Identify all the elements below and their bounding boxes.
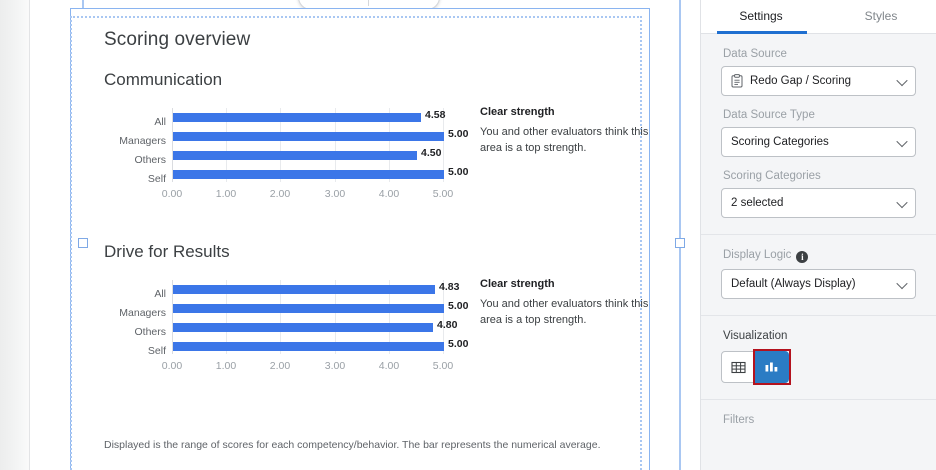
x-axis-ticks: 0.00 1.00 2.00 3.00 4.00 5.00 — [172, 360, 444, 374]
x-tick-label: 3.00 — [325, 188, 345, 200]
bar-chart-icon — [764, 360, 781, 375]
panel-tabs: Settings Styles — [701, 0, 936, 34]
bar-value-label: 5.00 — [448, 300, 468, 312]
visualization-table-button[interactable] — [721, 351, 755, 383]
editor-canvas: Scoring overview Communication All Manag… — [30, 0, 700, 470]
chevron-down-icon — [896, 197, 907, 208]
resize-handle-right[interactable] — [675, 238, 685, 248]
plot-area: 4.58 5.00 4.50 5.00 — [172, 108, 444, 186]
category-label: Managers — [104, 135, 166, 147]
visualization-chart-button[interactable] — [755, 351, 789, 383]
visualization-chart-highlight — [755, 351, 789, 383]
display-logic-label: Display Logici — [723, 249, 916, 263]
x-tick-label: 4.00 — [379, 188, 399, 200]
filters-group: Filters — [701, 400, 936, 448]
x-tick-label: 3.00 — [325, 360, 345, 372]
data-source-type-value: Scoring Categories — [731, 136, 829, 148]
section-title: Communication — [104, 70, 222, 90]
x-tick-label: 5.00 — [433, 188, 453, 200]
x-tick-label: 4.00 — [379, 360, 399, 372]
section-title: Drive for Results — [104, 242, 230, 262]
insight-note: Clear strength You and other evaluators … — [480, 106, 662, 156]
widget-content: Scoring overview Communication All Manag… — [82, 20, 642, 470]
display-logic-select[interactable]: Default (Always Display) — [721, 269, 916, 299]
chevron-down-icon — [896, 278, 907, 289]
category-label: Self — [104, 345, 166, 357]
data-source-type-label: Data Source Type — [723, 109, 916, 121]
display-logic-value: Default (Always Display) — [731, 278, 856, 290]
info-icon[interactable]: i — [796, 251, 808, 263]
spacer — [721, 96, 916, 109]
data-source-label: Data Source — [723, 48, 916, 60]
x-tick-label: 0.00 — [162, 360, 182, 372]
bar — [173, 323, 433, 332]
bar-value-label: 4.80 — [437, 319, 457, 331]
category-label: All — [104, 288, 166, 300]
bar-chart-communication: All Managers Others Self 4.58 — [104, 98, 464, 193]
chevron-down-icon — [896, 136, 907, 147]
scoring-section-communication: Communication All Managers Others Self — [82, 70, 642, 245]
category-label: Self — [104, 173, 166, 185]
settings-panel: Settings Styles Data Source Redo Gap / S… — [700, 0, 936, 470]
category-label: Managers — [104, 307, 166, 319]
bar — [173, 132, 444, 141]
category-label: Others — [104, 326, 166, 338]
data-source-select[interactable]: Redo Gap / Scoring — [721, 66, 916, 96]
insight-note-title: Clear strength — [480, 106, 662, 118]
visualization-toggle-group — [721, 351, 916, 383]
bar — [173, 285, 435, 294]
toolbar-divider — [368, 0, 369, 6]
filters-label: Filters — [723, 414, 916, 426]
bar-value-label: 5.00 — [448, 128, 468, 140]
data-source-value: Redo Gap / Scoring — [750, 75, 851, 87]
category-label: Others — [104, 154, 166, 166]
display-logic-label-text: Display Logic — [723, 249, 791, 261]
data-source-type-select[interactable]: Scoring Categories — [721, 127, 916, 157]
visualization-group: Visualization — [701, 316, 936, 400]
selection-rail-right — [679, 0, 681, 470]
tab-styles[interactable]: Styles — [831, 0, 931, 33]
data-source-group: Data Source Redo Gap / Scoring Data Sour… — [701, 34, 936, 235]
bar — [173, 113, 421, 122]
x-axis-ticks: 0.00 1.00 2.00 3.00 4.00 5.00 — [172, 188, 444, 202]
scoring-categories-label: Scoring Categories — [723, 170, 916, 182]
tab-settings[interactable]: Settings — [707, 0, 815, 33]
display-logic-group: Display Logici Default (Always Display) — [701, 235, 936, 316]
bar-value-label: 5.00 — [448, 166, 468, 178]
bar-chart-drive-for-results: All Managers Others Self 4.83 — [104, 270, 464, 365]
bar — [173, 342, 444, 351]
x-tick-label: 2.00 — [270, 188, 290, 200]
spacer — [721, 157, 916, 170]
scoring-categories-value: 2 selected — [731, 197, 783, 209]
insight-note: Clear strength You and other evaluators … — [480, 278, 662, 328]
x-tick-label: 1.00 — [216, 188, 236, 200]
bar — [173, 151, 417, 160]
table-grid-icon — [731, 360, 746, 375]
insight-note-title: Clear strength — [480, 278, 662, 290]
bar-value-label: 5.00 — [448, 338, 468, 350]
x-tick-label: 5.00 — [433, 360, 453, 372]
bar-value-label: 4.58 — [425, 109, 445, 121]
bar-value-label: 4.50 — [421, 147, 441, 159]
visualization-label: Visualization — [723, 330, 916, 342]
x-tick-label: 2.00 — [270, 360, 290, 372]
clipboard-icon — [731, 74, 743, 88]
chart-footnote: Displayed is the range of scores for eac… — [104, 438, 644, 453]
page-title: Scoring overview — [104, 29, 250, 51]
insight-note-body: You and other evaluators think this area… — [480, 297, 662, 328]
bar-value-label: 4.83 — [439, 281, 459, 293]
active-tab-indicator — [717, 31, 807, 34]
app-root: Scoring overview Communication All Manag… — [0, 0, 936, 470]
left-gutter — [0, 0, 30, 470]
scoring-categories-select[interactable]: 2 selected — [721, 188, 916, 218]
scoring-section-drive-for-results: Drive for Results All Managers Others Se… — [82, 242, 642, 417]
x-tick-label: 1.00 — [216, 360, 236, 372]
bar — [173, 304, 444, 313]
plot-area: 4.83 5.00 4.80 5.00 — [172, 280, 444, 358]
x-tick-label: 0.00 — [162, 188, 182, 200]
category-label: All — [104, 116, 166, 128]
bar — [173, 170, 444, 179]
chevron-down-icon — [896, 75, 907, 86]
insight-note-body: You and other evaluators think this area… — [480, 125, 662, 156]
